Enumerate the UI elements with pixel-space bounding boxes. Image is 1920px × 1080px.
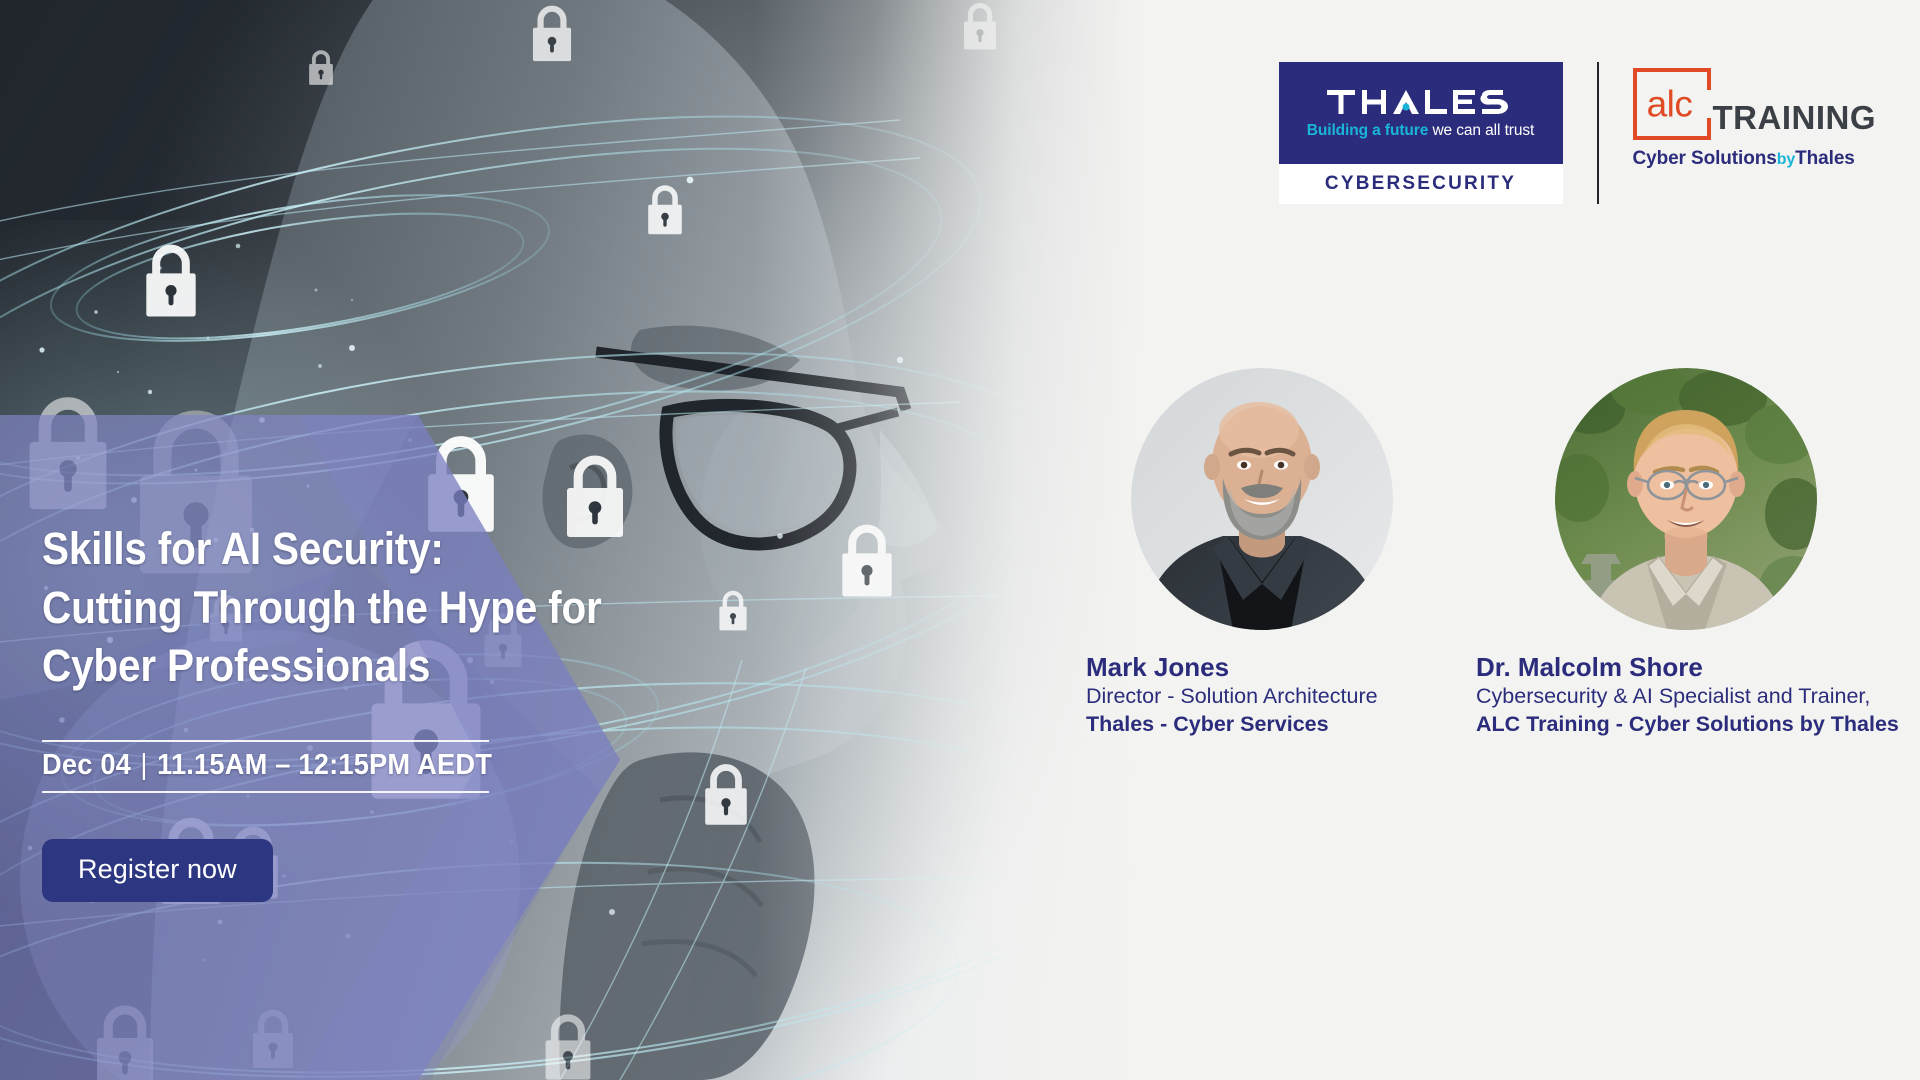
title-line-1: Skills for AI Security: [42, 520, 672, 579]
thales-cybersecurity-logo: Building a future we can all trust CYBER… [1279, 62, 1563, 204]
logo-divider [1597, 62, 1599, 204]
speaker-role: Cybersecurity & AI Specialist and Traine… [1476, 683, 1896, 711]
speaker-org: ALC Training - Cyber Solutions by Thales [1476, 711, 1896, 739]
logo-bar: Building a future we can all trust CYBER… [1279, 62, 1877, 204]
promo-text-panel: Skills for AI Security: Cutting Through … [42, 520, 742, 902]
datetime-separator: | [131, 749, 157, 781]
event-datetime: Dec 04|11.15AM – 12:15PM AEDT [42, 740, 489, 793]
avatar [1555, 368, 1817, 630]
alc-bracket-mark-icon: alc [1633, 68, 1707, 140]
thales-tagline-rest: we can all trust [1432, 122, 1534, 139]
alc-training-logo: alc TRAINING Cyber SolutionsbyThales [1633, 62, 1877, 204]
thales-tagline: Building a future we can all trust [1307, 123, 1534, 139]
speaker-name: Mark Jones [1072, 652, 1452, 683]
speaker-photo-malcolm-shore [1555, 368, 1817, 630]
speakers-list: Mark Jones Director - Solution Architect… [1000, 368, 1920, 739]
event-date: Dec 04 [42, 749, 131, 781]
speaker-card-mark-jones: Mark Jones Director - Solution Architect… [1072, 368, 1452, 739]
speaker-name: Dr. Malcolm Shore [1476, 652, 1896, 683]
page-title: Skills for AI Security: Cutting Through … [42, 520, 672, 696]
speaker-org: Thales - Cyber Services [1072, 711, 1452, 739]
alc-tagline-prefix: Cyber Solutions [1633, 148, 1777, 169]
thales-wordmark-icon [1326, 87, 1516, 117]
title-line-2: Cutting Through the Hype for [42, 579, 672, 638]
title-line-3: Cyber Professionals [42, 637, 672, 696]
alc-tagline: Cyber SolutionsbyThales [1633, 149, 1855, 168]
avatar [1131, 368, 1393, 630]
alc-tagline-by: by [1777, 151, 1795, 168]
register-now-button[interactable]: Register now [42, 839, 273, 902]
event-time: 11.15AM – 12:15PM AEDT [157, 749, 492, 781]
alc-training-word: TRAINING [1713, 101, 1877, 140]
alc-tagline-suffix: Thales [1795, 148, 1855, 169]
speaker-photo-mark-jones [1131, 368, 1393, 630]
speaker-role: Director - Solution Architecture [1072, 683, 1452, 711]
thales-division-block: CYBERSECURITY [1279, 164, 1563, 204]
thales-division-label: CYBERSECURITY [1325, 173, 1516, 195]
thales-logo-block: Building a future we can all trust [1279, 62, 1563, 164]
thales-tagline-highlight: Building a future [1307, 122, 1428, 139]
alc-mark-label: alc [1633, 86, 1707, 123]
speaker-card-malcolm-shore: Dr. Malcolm Shore Cybersecurity & AI Spe… [1476, 368, 1896, 739]
